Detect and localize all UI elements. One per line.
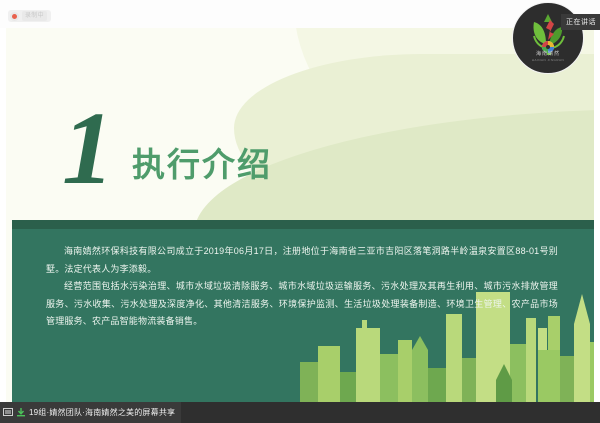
paragraph-2: 经营范围包括水污染治理、城市水域垃圾清除服务、城市水域垃圾运输服务、污水处理及其… xyxy=(46,278,558,331)
divider-band xyxy=(12,220,594,229)
speaking-indicator: 正在讲话 xyxy=(561,14,600,30)
slide-edge-left xyxy=(0,28,6,404)
record-dot-icon xyxy=(10,12,19,21)
logo-brand-en: HAINAN JINGRAN xyxy=(520,58,576,62)
status-bar-empty xyxy=(181,402,600,423)
status-bar: 19组·婧然团队·海南婧然之美的屏幕共享 xyxy=(0,402,600,423)
recording-badge-label: 录制中 xyxy=(22,11,47,21)
section-number: 1 xyxy=(62,106,110,192)
content-panel: 海南婧然环保科技有限公司成立于2019年06月17日，注册地位于海南省三亚市吉阳… xyxy=(12,229,594,404)
slide-edge-right xyxy=(594,28,600,404)
page-title: 执行介绍 xyxy=(132,138,272,186)
shared-slide: 1 执行介绍 xyxy=(0,14,600,404)
screen-share-viewer: 录制中 1 执行介绍 xyxy=(0,0,600,423)
top-strip: 录制中 xyxy=(0,0,600,28)
logo-brand-cn: 海南婧然 xyxy=(520,50,576,57)
screen-share-icon xyxy=(3,408,13,417)
recording-badge[interactable]: 录制中 xyxy=(8,10,51,22)
slide-canvas: 1 执行介绍 xyxy=(6,14,594,404)
logo-brand-text: 海南婧然 HAINAN JINGRAN xyxy=(520,50,576,62)
share-status-chip[interactable]: 19组·婧然团队·海南婧然之美的屏幕共享 xyxy=(0,402,181,423)
slide-title-row: 1 执行介绍 xyxy=(62,106,272,192)
paragraph-1: 海南婧然环保科技有限公司成立于2019年06月17日，注册地位于海南省三亚市吉阳… xyxy=(46,243,558,278)
share-status-text: 19组·婧然团队·海南婧然之美的屏幕共享 xyxy=(29,407,175,418)
download-arrow-icon xyxy=(16,408,26,417)
slide-body-text: 海南婧然环保科技有限公司成立于2019年06月17日，注册地位于海南省三亚市吉阳… xyxy=(46,243,558,331)
participant-video-tile[interactable]: 海南婧然 HAINAN JINGRAN xyxy=(512,2,584,74)
